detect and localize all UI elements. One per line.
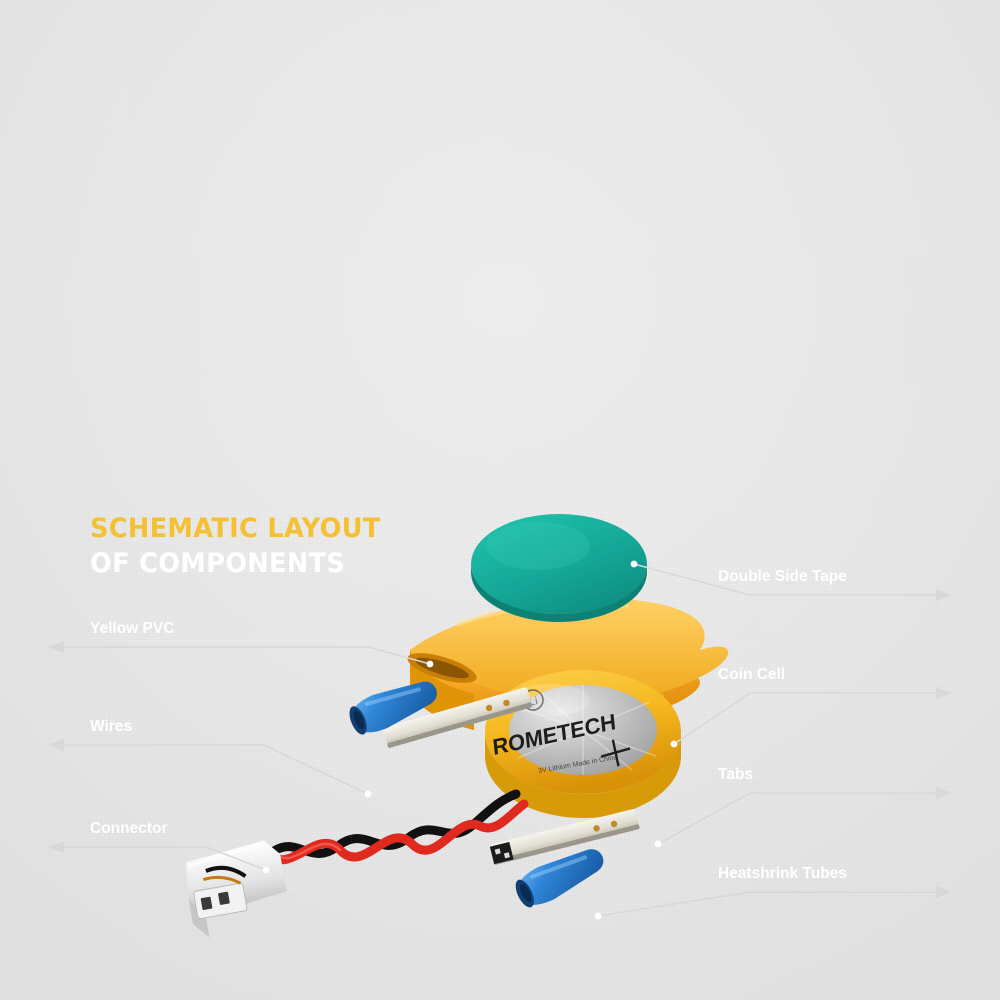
callout-label-coin-cell: Coin Cell — [718, 666, 785, 684]
schematic-heading-line1: SCHEMATIC LAYOUT — [90, 512, 381, 547]
callout-label-wires: Wires — [90, 718, 132, 736]
callout-label-tabs: Tabs — [718, 766, 753, 784]
schematic-heading: SCHEMATIC LAYOUT OF COMPONENTS — [90, 512, 381, 581]
callout-label-double-side-tape: Double Side Tape — [718, 568, 847, 586]
callout-label-heatshrink-tubes: Heatshrink Tubes — [718, 865, 847, 883]
callout-label-yellow-pvc: Yellow PVC — [90, 620, 174, 638]
schematic-heading-line2: OF COMPONENTS — [90, 547, 381, 582]
schematic-panel: SCHEMATIC LAYOUT OF COMPONENTS — [38, 464, 962, 948]
callout-label-connector: Connector — [90, 820, 168, 838]
